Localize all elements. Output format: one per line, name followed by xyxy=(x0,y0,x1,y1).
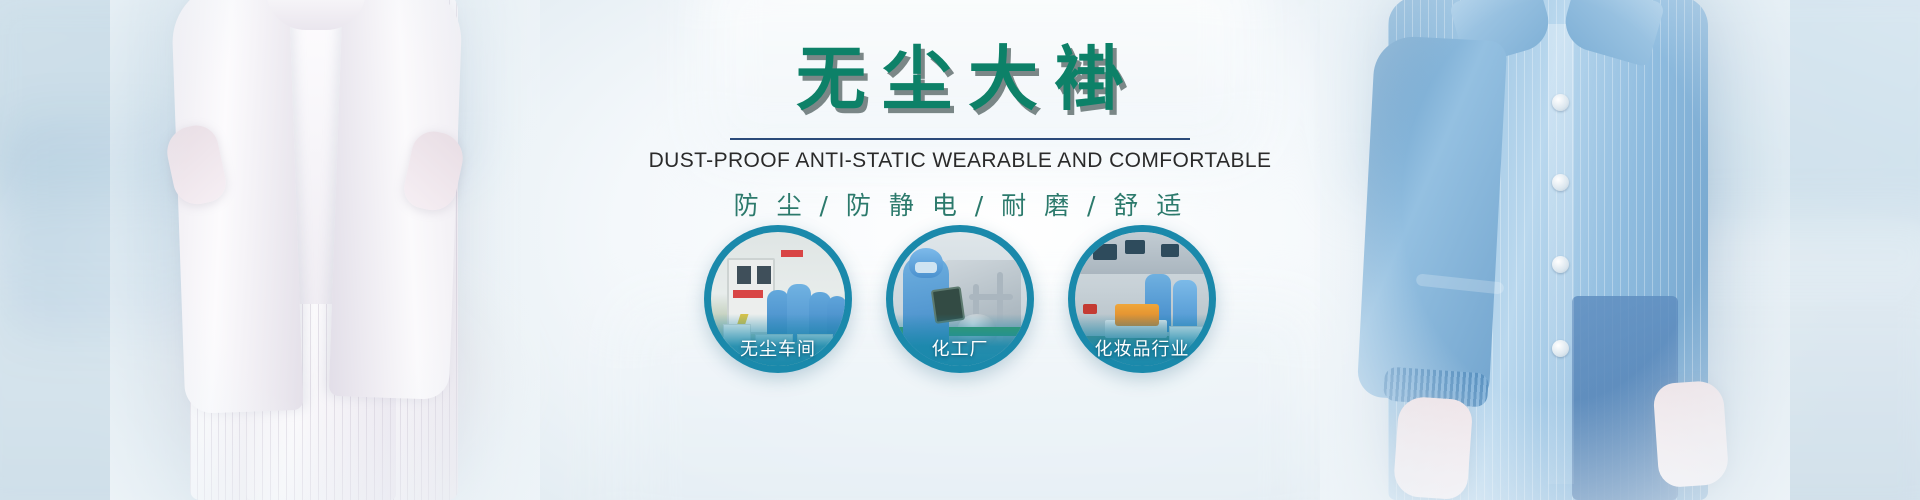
badge-label: 化工厂 xyxy=(886,335,1034,361)
badge-cosmetics-industry[interactable]: 化妆品行业 xyxy=(1068,225,1216,373)
banner-subtitle-chinese: 防 尘 / 防 静 电 / 耐 磨 / 舒 适 xyxy=(734,186,1187,222)
badge-chemical-plant[interactable]: 化工厂 xyxy=(886,225,1034,373)
badge-cleanroom-workshop[interactable]: 无尘车间 xyxy=(704,225,852,373)
banner-title: 无尘大褂 xyxy=(780,44,1140,114)
badge-label: 化妆品行业 xyxy=(1068,335,1216,361)
banner-subtitle-english: DUST-PROOF ANTI-STATIC WEARABLE AND COMF… xyxy=(649,149,1272,173)
title-divider xyxy=(730,138,1190,140)
application-badges: 无尘车间 化工厂 xyxy=(704,225,1216,373)
badge-label: 无尘车间 xyxy=(704,335,852,361)
product-banner: 无尘大褂 DUST-PROOF ANTI-STATIC WEARABLE AND… xyxy=(0,0,1920,500)
